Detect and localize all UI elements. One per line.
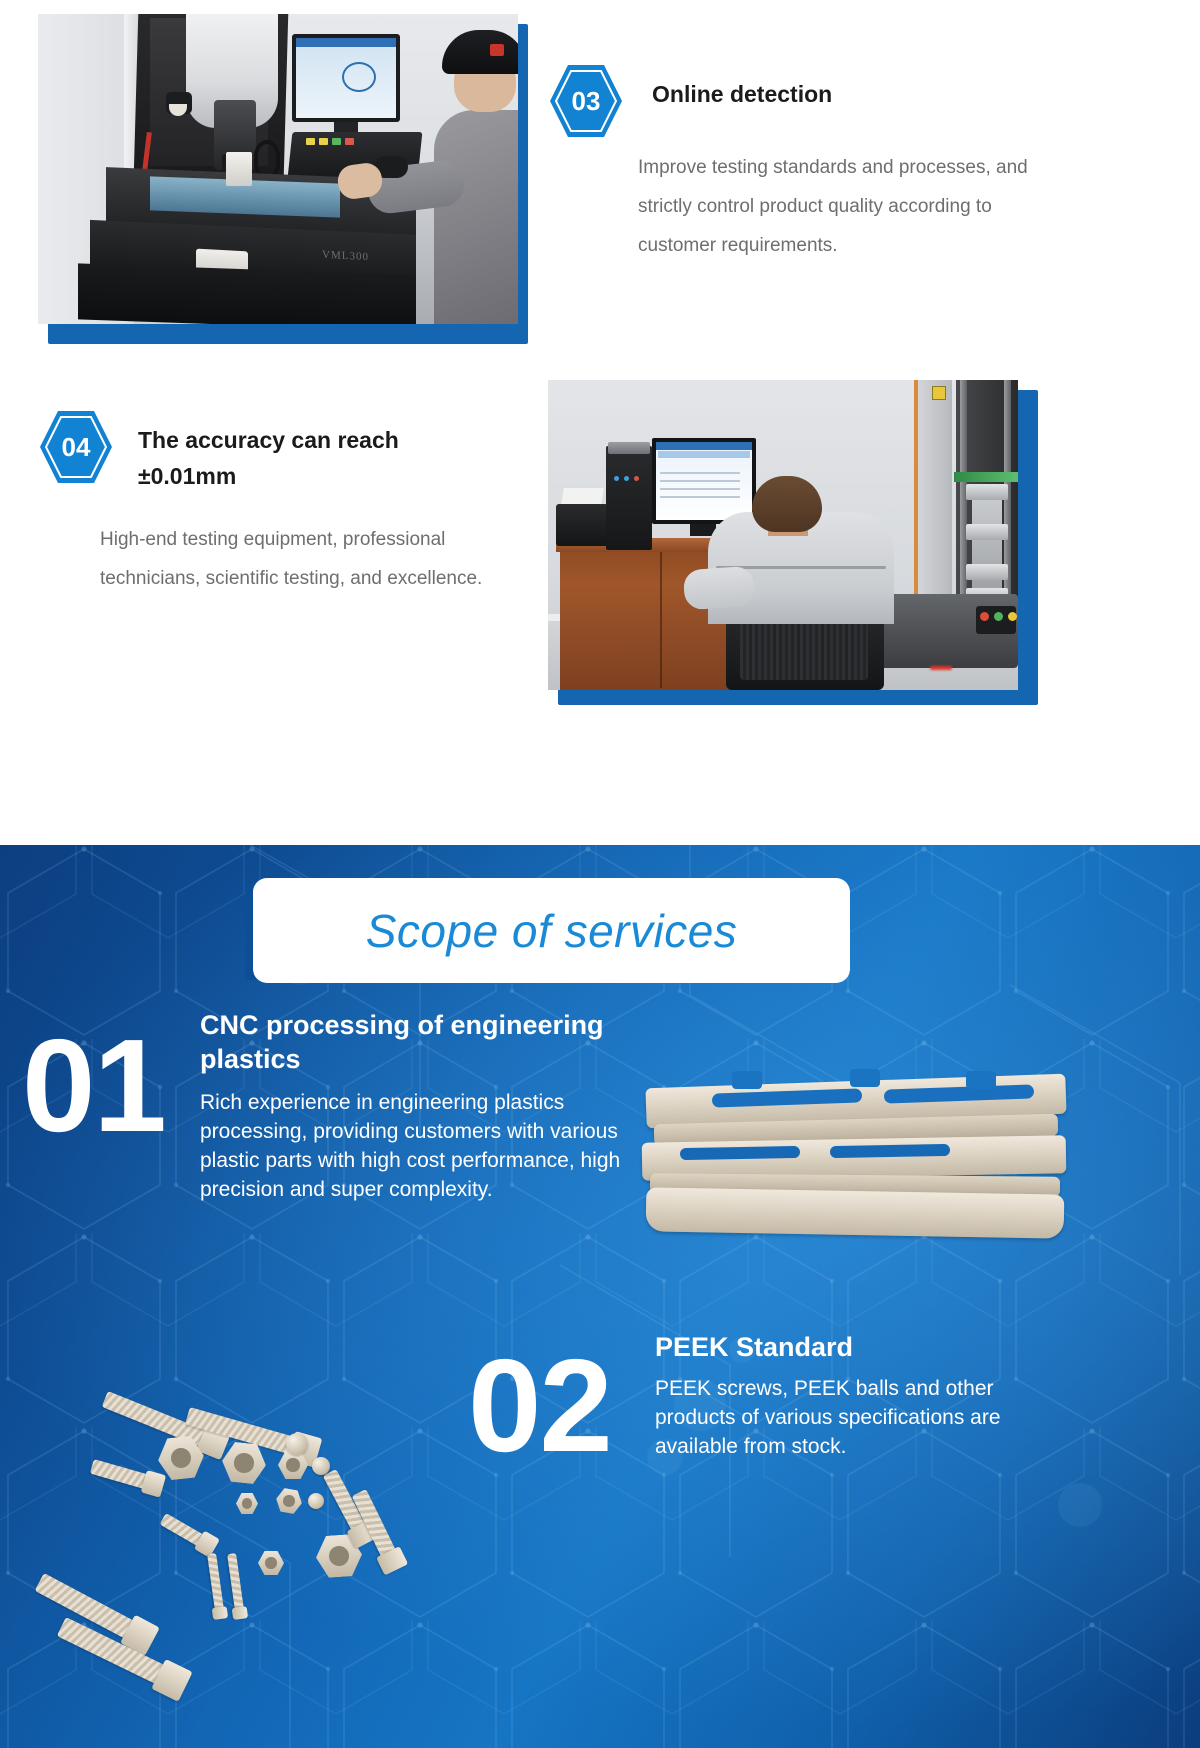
feature-item-03: 03 Online detection Improve testing stan… (548, 62, 1108, 265)
photo-image: VML300 (38, 14, 518, 324)
product-image-peek-fasteners (40, 1385, 460, 1705)
features-section: VML300 03 Online detection Improve testi… (0, 0, 1200, 845)
badge-number: 04 (38, 408, 114, 486)
feature-header: 04 The accuracy can reach ±0.01mm (38, 408, 558, 494)
feature-item-04: 04 The accuracy can reach ±0.01mm High-e… (38, 408, 558, 598)
scope-item-title: CNC processing of engineering plastics (200, 1008, 650, 1076)
feature-title: Online detection (624, 62, 832, 112)
photo-accuracy-testing (548, 380, 1028, 700)
photo-online-detection: VML300 (38, 14, 518, 334)
hexagon-badge-icon: 03 (548, 62, 624, 140)
photo-image (548, 380, 1018, 690)
title-box: Scope of services (253, 878, 850, 983)
scope-item-title: PEEK Standard (655, 1330, 1075, 1364)
feature-description: High-end testing equipment, professional… (100, 520, 530, 598)
scope-item-number-01: 01 (22, 1020, 165, 1152)
hexagon-badge-icon: 04 (38, 408, 114, 486)
feature-description: Improve testing standards and processes,… (638, 148, 1038, 265)
scope-item-01: CNC processing of engineering plastics R… (200, 1008, 650, 1204)
badge-number: 03 (548, 62, 624, 140)
product-image-peek-chain-part (640, 1035, 1070, 1255)
scope-title-container: Scope of services (245, 878, 850, 983)
feature-header: 03 Online detection (548, 62, 1108, 140)
scope-of-services-section: Scope of services 01 CNC processing of e… (0, 845, 1200, 1748)
machine-model-label: VML300 (322, 249, 369, 263)
feature-title: The accuracy can reach ±0.01mm (114, 408, 494, 494)
scope-item-description: Rich experience in engineering plastics … (200, 1088, 640, 1204)
scope-item-description: PEEK screws, PEEK balls and other produc… (655, 1374, 1075, 1461)
scope-item-number-02: 02 (468, 1340, 611, 1472)
scope-heading: Scope of services (366, 904, 738, 958)
scope-item-02: PEEK Standard PEEK screws, PEEK balls an… (655, 1330, 1075, 1461)
